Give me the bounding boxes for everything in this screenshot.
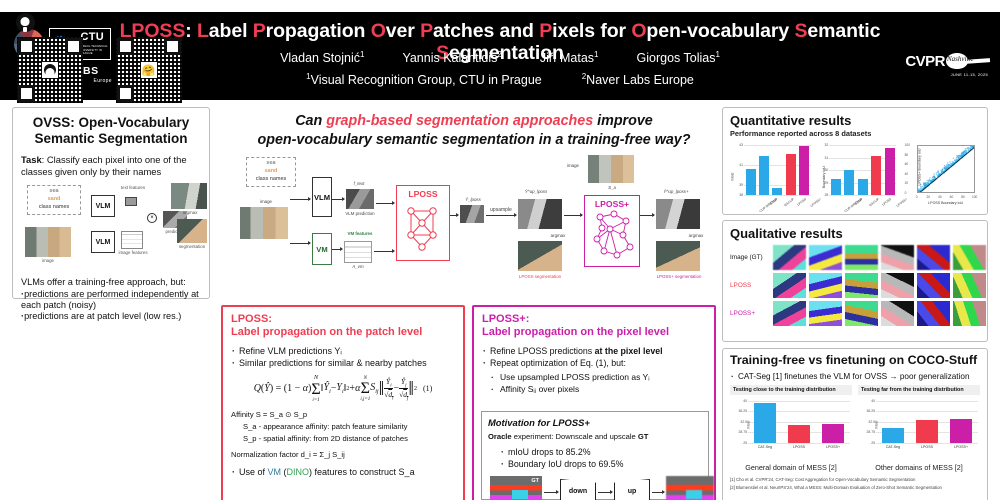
finetuning-caption-far: Other domains of MESS [2]: [858, 463, 980, 472]
qualitative-cell: [845, 245, 878, 270]
pipeline-lposs-plus-segmentation: [656, 241, 700, 271]
scatter-x-tick: 0: [913, 195, 921, 199]
finetuning-caption-near: General domain of MESS [2]: [730, 463, 852, 472]
cvpr-script-text: Nashville: [947, 55, 973, 63]
affiliation-0: 1Visual Recognition Group, CTU in Prague: [306, 72, 542, 87]
bars: [744, 145, 811, 195]
lposs-bullet-1: Similar predictions for similar & nearby…: [231, 357, 455, 369]
finetuning-title: Training-free vs finetuning on COCO-Stuf…: [730, 354, 980, 368]
title-segment: O: [371, 20, 386, 42]
plot-area: 2829303132: [829, 145, 896, 195]
bar-lposs: [786, 154, 796, 195]
finetuning-banner-far: Testing far from the training distributi…: [858, 385, 980, 395]
cvpr-date-sub: JUNE 11-15, 2025: [951, 72, 988, 77]
pipeline-lposs-plus-seg-caption: LPOSS+ segmentation: [646, 274, 712, 280]
ovss-input-image: [25, 227, 71, 257]
author-0: Vladan Stojnić1: [280, 50, 364, 65]
plot-area: 2528.7532.536.2540: [748, 401, 850, 443]
lposs-plus-graph-icon: [590, 209, 636, 263]
y-axis-label: mIoU: [730, 173, 734, 182]
qualitative-cell: [809, 273, 842, 298]
y-axis-label: mIoU: [874, 420, 878, 429]
pipeline-vlm-box: VLM: [312, 177, 332, 217]
lposs-plus-subbullet-0: Use upsampled LPOSS prediction as Yᵢ: [490, 371, 706, 383]
author-1: Yannis Kalantidis2: [402, 50, 501, 65]
x-tick-label: LPOSS+: [817, 445, 849, 449]
pipeline-y-up-lposs-plus-grid: [656, 199, 700, 229]
lposs-last-pre: Use of: [239, 467, 268, 477]
method-pipeline-diagram: sea sand class names image VLM VM f_text…: [232, 155, 718, 301]
x-tick-label: CAT-Seg: [749, 445, 781, 449]
quantitative-subtitle: Performance reported across 8 datasets: [730, 129, 980, 138]
motivation-title: Motivation for LPOSS+: [488, 417, 702, 428]
x-tick-label: LPOSS: [881, 197, 892, 207]
qualitative-cell: [809, 301, 842, 326]
qualitative-cell: [881, 245, 914, 270]
scatter-y-tick: 60: [905, 162, 909, 166]
gridline: [748, 443, 850, 444]
pipeline-a-vm-label: A_vm: [342, 264, 374, 270]
bars: [876, 401, 978, 443]
motivation-oracle-bold: Oracle: [488, 432, 512, 441]
bar-naclip: [858, 179, 868, 195]
finetuning-plot-far: 2528.7532.536.2540mIoUCAT-SegLPOSSLPOSS+: [874, 397, 980, 453]
y-axis-label: mIoU: [746, 420, 750, 429]
qualitative-row: LPOSS: [730, 273, 980, 298]
scatter-x-tick: 80: [959, 195, 967, 199]
qualitative-cell: [809, 245, 842, 270]
ctu-fullname: CZECH TECHNICAL UNIVERSITY IN PRAGUE: [81, 45, 110, 56]
ovss-title: OVSS: Open-Vocabulary Semantic Segmentat…: [21, 115, 201, 147]
bar-lposs-: [950, 419, 972, 443]
plot-area: 2528.7532.536.2540: [876, 401, 978, 443]
github-icon: [44, 64, 56, 76]
lposs-affinity-appearance: S_a - appearance affinity: patch feature…: [231, 421, 455, 433]
bar-lposs: [871, 156, 881, 195]
bars: [748, 401, 850, 443]
pipeline-classnames-caption: class names: [250, 176, 292, 184]
motivation-result-image: [666, 476, 714, 500]
plot-area: 38394143: [744, 145, 811, 195]
pipeline-argmax-label-1: argmax: [544, 233, 572, 239]
title-segment: P: [539, 20, 552, 42]
lposs-plus-title-line1: LPOSS+:: [482, 313, 706, 326]
pipeline-lposs-seg-caption: LPOSS segmentation: [510, 274, 570, 280]
lposs-plus-box-title: LPOSS+: Label propagation on the pixel l…: [482, 313, 706, 340]
lposs-affinity-line: Affinity S = S_a ⊙ S_p: [231, 410, 307, 419]
x-tick-label: LPOSS: [796, 197, 807, 207]
qualitative-row: LPOSS+: [730, 301, 980, 326]
qualitative-cell: [845, 273, 878, 298]
ovss-class-sea: sea: [31, 188, 77, 196]
finetuning-banner-near: Testing close to the training distributi…: [730, 385, 852, 395]
ovss-image-feature-grid: [121, 231, 143, 249]
qualitative-cell: [953, 245, 986, 270]
author-2: Jiří Matas1: [540, 50, 599, 65]
title-segment: :: [185, 20, 197, 42]
motivation-bullet-1: Boundary IoU drops to 69.5%: [500, 458, 702, 470]
pipeline-image-caption: image: [246, 199, 286, 205]
gridline: [829, 195, 896, 196]
ovss-text-features-label: text features: [119, 185, 147, 191]
pipeline-y-up-lposs-label: Ŷ^up_lposs: [518, 189, 554, 195]
ovss-vlm-image-encoder: VLM: [91, 231, 115, 253]
qualitative-cell: [917, 245, 950, 270]
ovss-task-body: : Classify each pixel into one of the cl…: [21, 154, 187, 176]
lposs-title-line2: Label propagation on the patch level: [231, 326, 455, 339]
lposs-plus-bullet-1-text: Repeat optimization of Eq. (1), but:: [490, 358, 626, 368]
x-tick-label: LPOSS: [911, 445, 943, 449]
motivation-box: Motivation for LPOSS+ Oracle experiment:…: [481, 411, 709, 500]
scatter-y-tick: 100: [905, 143, 910, 147]
qualitative-row-label: Image (GT): [730, 254, 770, 261]
lposs-plus-bullet-0: Refine LPOSS predictions at the pixel le…: [482, 345, 706, 357]
x-tick-label: LPOSS: [783, 445, 815, 449]
ovss-classnames-box: sea sand class names: [27, 185, 81, 215]
bar-lposs-: [885, 148, 895, 196]
pipeline-input-image: [240, 207, 288, 239]
qualitative-results-panel: Qualitative results Image (GT)LPOSSLPOSS…: [722, 220, 988, 342]
pipeline-f-text-label: f_text: [344, 181, 374, 187]
lposs-plus-bullet-0-bold: at the pixel level: [595, 346, 663, 356]
lposs-graph-icon: [402, 201, 444, 257]
title-segment: S: [794, 20, 807, 42]
ctu-abbr: CTU: [81, 32, 110, 43]
title-segment: ixels for: [552, 20, 631, 42]
scatter-x-tick: 60: [947, 195, 955, 199]
pipeline-vlm-prediction-grid: [346, 189, 374, 209]
qualitative-cell: [953, 273, 986, 298]
qualitative-grid: Image (GT)LPOSSLPOSS+: [730, 245, 980, 326]
ovss-class-sand: sand: [31, 196, 77, 204]
references-list: [1] Cho et al. CVPR'24, CAT-Seg: Cost Ag…: [730, 476, 980, 492]
title-segment: O: [631, 20, 646, 42]
lposs-equation: Q(Ŷ) = (1 − α) N Σ i=1 ‖Ŷi − Yi‖2 + α N …: [231, 375, 455, 403]
x-tick-label: NACLIP: [868, 197, 880, 207]
boundary-iou-scatter-chart: LPOSS+ Boundary IoULPOSS Boundary IoU020…: [901, 141, 980, 213]
title-segment: pen-vocabulary: [646, 20, 794, 42]
ovss-task-label: Task: [21, 154, 42, 165]
lposs-last-bullet: Use of VM (DINO) features to construct S…: [231, 467, 455, 477]
qualitative-cell: [881, 301, 914, 326]
pipeline-y-lposs-label: Ŷ_lposs: [460, 197, 486, 203]
y-tick-label: 36.25: [867, 409, 877, 413]
lposs-last-post: ) features to construct S_a: [309, 467, 415, 477]
bar-clip-dinoiser: [831, 179, 841, 195]
title-segment: P: [420, 20, 433, 42]
lposs-last-vm: VM: [268, 467, 282, 477]
affiliation-1: 2Naver Labs Europe: [582, 72, 694, 87]
pipeline-class-sea: sea: [250, 160, 292, 168]
ovss-lead-text: VLMs offer a training-free approach, but…: [21, 277, 201, 288]
qualitative-row: Image (GT): [730, 245, 980, 270]
pipeline-top-image: [588, 155, 634, 183]
ovss-bullet-0: predictions are performed independently …: [21, 289, 201, 311]
bar-lposs: [788, 425, 810, 443]
lposs-plus-bullet-0-text: Refine LPOSS predictions: [490, 346, 595, 356]
ovss-segmentation-caption: segmentation: [171, 244, 213, 250]
author-list: Vladan Stojnić1Yannis Kalantidis2Jiří Ma…: [150, 50, 850, 65]
pipeline-vm-features-caption: VM features: [340, 231, 380, 237]
scatter-y-tick: 20: [905, 181, 909, 185]
pipeline-y-up-lposs-plus-label: Ŷ^up_lposs+: [656, 189, 696, 195]
qualitative-cell: [845, 301, 878, 326]
bars: [829, 145, 896, 195]
motivation-gt-image: GT: [490, 476, 542, 500]
gridline: [744, 195, 811, 196]
question-pre: Can: [295, 113, 326, 129]
quantitative-title: Quantitative results: [730, 113, 980, 128]
motivation-subtitle-rest: experiment: Downscale and upscale: [512, 432, 638, 441]
question-line2: open-vocabulary semantic segmentation in…: [258, 132, 691, 148]
motivation-gt-tag: GT: [531, 478, 539, 484]
pipeline-vlm-prediction-caption: VLM prediction: [340, 211, 380, 217]
bar-naclip: [772, 188, 782, 195]
y-tick-label: 28.75: [739, 430, 749, 434]
motivation-subtitle: Oracle experiment: Downscale and upscale…: [488, 432, 702, 441]
scatter-plot-area: [917, 145, 975, 193]
lposs-plus-bullet-1: Repeat optimization of Eq. (1), but: Use…: [482, 357, 706, 395]
bar-sclip: [759, 156, 769, 195]
ovss-task-text: Task: Classify each pixel into one of th…: [21, 154, 201, 177]
motivation-up-block: up: [614, 479, 650, 500]
y-tick-label: 28.75: [867, 430, 877, 434]
ovss-panel: OVSS: Open-Vocabulary Semantic Segmentat…: [12, 107, 210, 299]
scatter-x-tick: 100: [971, 195, 979, 199]
bar-lposs-: [799, 146, 809, 195]
finetuning-comparison-panel: Training-free vs finetuning on COCO-Stuf…: [722, 348, 988, 500]
motivation-flow-diagram: GT down up: [488, 474, 702, 500]
lposs-bullet-0: Refine VLM predictions Yᵢ: [231, 345, 455, 357]
bar-lposs-: [822, 424, 844, 443]
x-tick-label: SCLIP: [769, 197, 779, 206]
code-qr-code[interactable]: [17, 37, 83, 103]
qualitative-cell: [917, 273, 950, 298]
miou-bar-chart: 38394143mIoUCLIP-DINOiserSCLIPNACLIPLPOS…: [730, 141, 813, 213]
y-axis-label: Boundary IoU: [822, 166, 826, 188]
question-highlight: graph-based segmentation approaches: [326, 113, 593, 129]
qualitative-row-label: LPOSS: [730, 282, 770, 289]
scatter-y-axis-label: LPOSS+ Boundary IoU: [917, 148, 921, 185]
quantitative-results-panel: Quantitative results Performance reporte…: [722, 107, 988, 215]
qualitative-cell: [773, 245, 806, 270]
ovss-image-features-label: image features: [117, 250, 149, 256]
github-icon: [16, 13, 35, 32]
lposs-equation-number: (1): [423, 384, 432, 393]
qualitative-title: Qualitative results: [730, 226, 980, 241]
finetuning-plot-near: 2528.7532.536.2540mIoUCAT-SegLPOSSLPOSS+: [746, 397, 852, 453]
lposs-plus-subbullet-1: Affinity Sᵢⱼ over pixels: [490, 383, 706, 395]
pipeline-top-image-caption: image: [560, 163, 586, 169]
bar-cat-seg: [754, 403, 776, 443]
ovss-segmentation-output: [177, 219, 207, 243]
pipeline-lposs-plus-label: LPOSS+: [595, 199, 629, 209]
lposs-method-box: LPOSS: Label propagation on the patch le…: [221, 305, 465, 500]
qualitative-cell: [917, 301, 950, 326]
finetuning-chart-near: Testing close to the training distributi…: [730, 385, 852, 472]
lposs-box-title: LPOSS: Label propagation on the patch le…: [231, 313, 455, 340]
scatter-x-tick: 40: [936, 195, 944, 199]
finetuning-chart-far: Testing far from the training distributi…: [858, 385, 980, 472]
lposs-affinity-notes: Affinity S = S_a ⊙ S_p S_a - appearance …: [231, 409, 455, 462]
x-tick-label: CAT-Seg: [877, 445, 909, 449]
motivation-gt-bold: GT: [638, 432, 649, 441]
affiliation-list: 1Visual Recognition Group, CTU in Prague…: [150, 72, 850, 87]
quantitative-charts: 38394143mIoUCLIP-DINOiserSCLIPNACLIPLPOS…: [730, 141, 980, 213]
title-segment: abel: [209, 20, 253, 42]
finetuning-bullet: CAT-Seg [1] finetunes the VLM for OVSS →…: [730, 372, 980, 381]
reference-1: [2] Blumenstiel et al. NeurIPS'24, What …: [730, 484, 980, 492]
lposs-plus-title-line2: Label propagation on the pixel level: [482, 326, 706, 339]
ovss-image-caption: image: [25, 258, 71, 264]
bar-cat-seg: [882, 428, 904, 443]
author-3: Giorgos Tolias1: [637, 50, 720, 65]
title-segment: ropagation: [266, 20, 371, 42]
ovss-limitations: VLMs offer a training-free approach, but…: [21, 277, 201, 322]
pipeline-y-lposs-grid: [460, 205, 484, 223]
pipeline-classnames-box: sea sand class names: [246, 157, 296, 187]
title-segment: L: [197, 20, 209, 42]
scatter-x-tick: 20: [924, 195, 932, 199]
lposs-affinity-spatial: S_p - spatial affinity: from 2D distance…: [231, 433, 455, 445]
pipeline-upsample-label: upsample: [484, 207, 518, 214]
y-tick-label: 36.25: [739, 409, 749, 413]
pipeline-lposs-label: LPOSS: [408, 189, 437, 199]
boundary-iou-bar-chart: 2829303132Boundary IoUCLIP-DINOiserSCLIP…: [815, 141, 898, 213]
x-tick-label: SCLIP: [854, 197, 864, 206]
lposs-normalization: Normalization factor d_i = Σ_j S_ij: [231, 449, 455, 461]
cvpr-logo: CVPR Nashville: [905, 52, 990, 70]
lposs-last-dino: DINO: [287, 467, 310, 477]
scatter-y-tick: 80: [905, 153, 909, 157]
pipeline-class-sand: sand: [250, 168, 292, 176]
ovss-vlm-text-encoder: VLM: [91, 195, 115, 217]
scatter-y-tick: 0: [905, 191, 907, 195]
cvpr-wordmark: CVPR: [905, 53, 945, 70]
qualitative-cell: [953, 301, 986, 326]
research-question: Can graph-based segmentation approaches …: [232, 112, 716, 151]
bar-lposs: [916, 420, 938, 443]
naver-labs-europe-sub: Europe: [93, 78, 112, 84]
pipeline-argmax-label-2: argmax: [682, 233, 710, 239]
motivation-down-block: down: [560, 479, 596, 500]
qualitative-cell: [773, 301, 806, 326]
demo-qr-code[interactable]: 🤗: [116, 37, 182, 103]
pipeline-y-up-lposs-grid: [518, 199, 562, 229]
cvpr-guitar-icon: Nashville: [946, 52, 990, 70]
bar-clip-dinoiser: [746, 169, 756, 195]
lposs-plus-method-box: LPOSS+: Label propagation on the pixel l…: [472, 305, 716, 500]
pipeline-lposs-segmentation: [518, 241, 562, 271]
gridline: [876, 443, 978, 444]
reference-0: [1] Cho et al. CVPR'24, CAT-Seg: Cost Ag…: [730, 476, 980, 484]
x-tick-label: NACLIP: [783, 197, 795, 207]
x-tick-label: LPOSS+: [945, 445, 977, 449]
finetuning-charts: Testing close to the training distributi…: [730, 385, 980, 472]
scatter-y-tick: 40: [905, 172, 909, 176]
lposs-title-line1: LPOSS:: [231, 313, 455, 326]
title-segment: atches and: [433, 20, 539, 42]
ovss-argmax-source-grid: [171, 183, 207, 209]
ovss-multiply-icon: ×: [147, 213, 157, 223]
qualitative-cell: [881, 273, 914, 298]
pipeline-vm-box: VM: [312, 233, 332, 265]
question-post: improve: [593, 113, 653, 129]
ovss-bullet-1: predictions are at patch level (low res.…: [21, 311, 201, 322]
motivation-bullet-0: mIoU drops to 85.2%: [500, 446, 702, 458]
bar-sclip: [844, 170, 854, 195]
title-segment: ver: [386, 20, 420, 42]
title-segment: emantic: [807, 20, 880, 42]
ovss-text-feature-grid: [125, 197, 137, 206]
title-segment: P: [253, 20, 266, 42]
scatter-x-axis-label: LPOSS Boundary IoU: [917, 201, 975, 205]
pipeline-sa-label: S_a: [602, 185, 622, 191]
ovss-diagram: sea sand class names image VLM VLM text …: [21, 181, 201, 273]
pipeline-vm-features-grid: [344, 241, 372, 263]
qualitative-cell: [773, 273, 806, 298]
ovss-argmax-label: argmax: [173, 210, 207, 216]
hugging-face-icon: 🤗: [142, 64, 156, 77]
qualitative-row-label: LPOSS+: [730, 310, 770, 317]
ovss-classnames-caption: class names: [31, 204, 77, 212]
